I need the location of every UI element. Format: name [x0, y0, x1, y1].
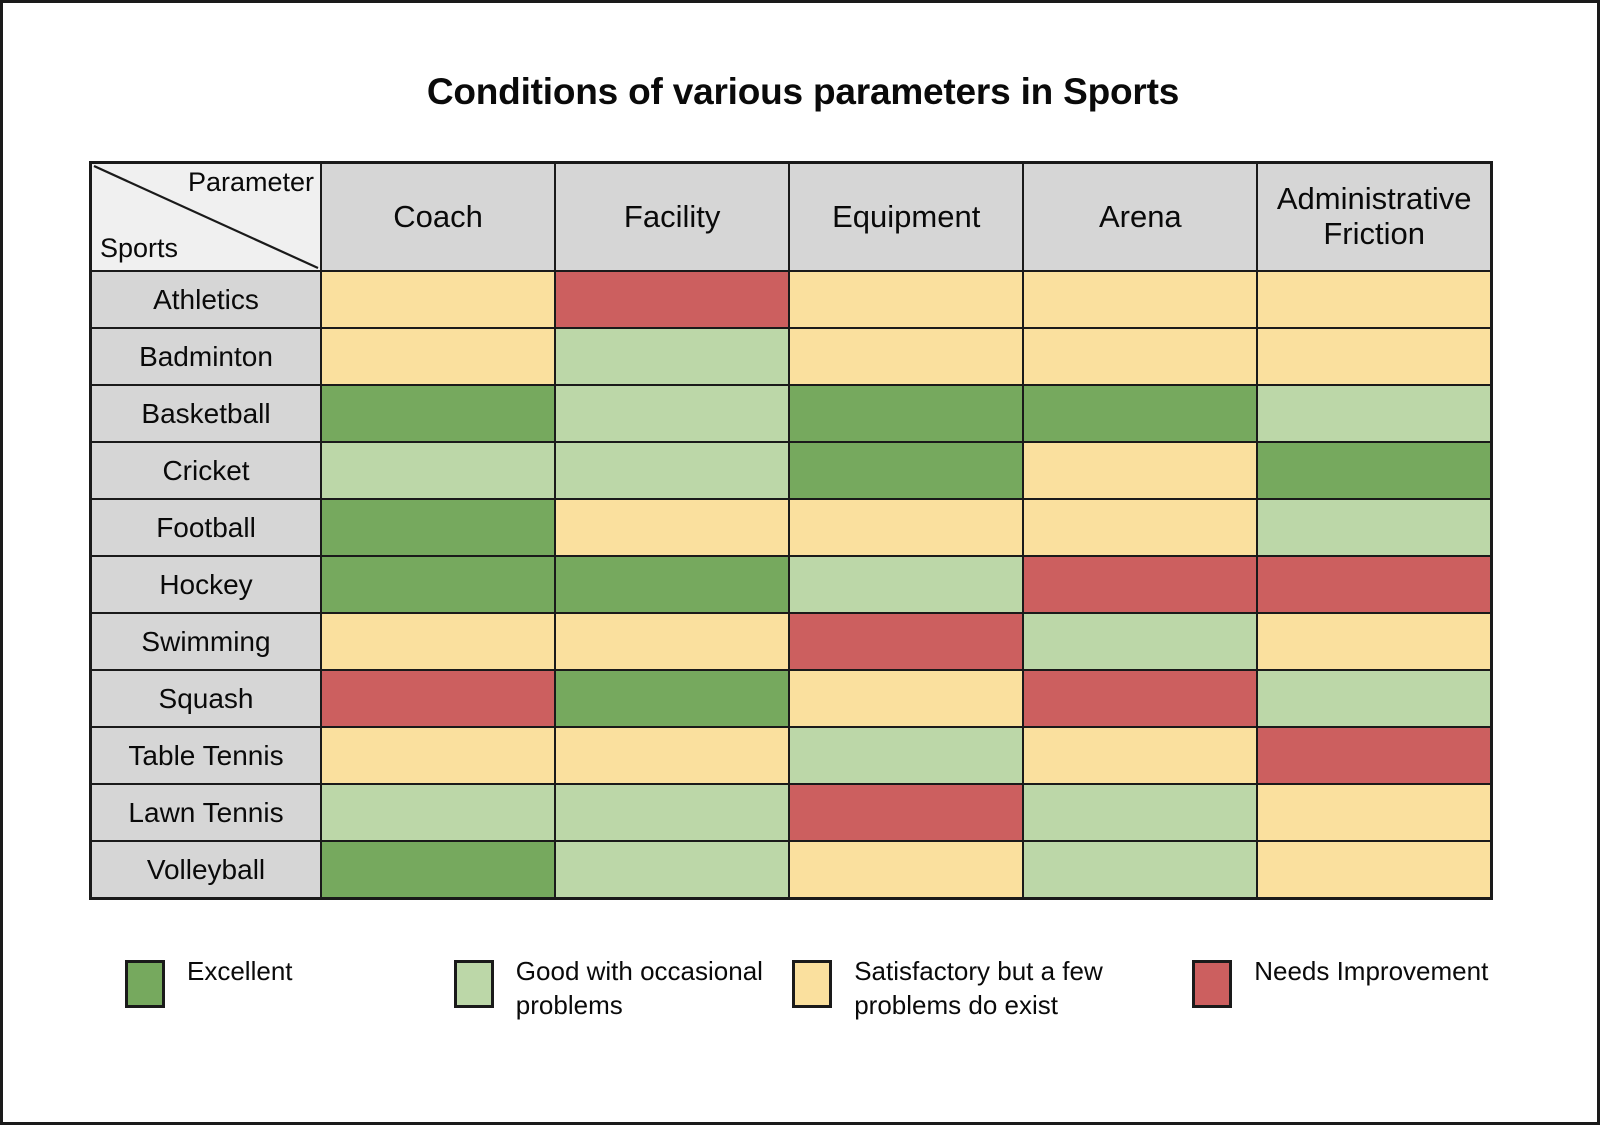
- matrix-cell: [555, 328, 789, 385]
- matrix-cell: [1023, 385, 1257, 442]
- matrix-cell: [1257, 442, 1491, 499]
- legend-swatch-needs-improvement: [1192, 960, 1232, 1008]
- matrix-cell: [789, 841, 1023, 899]
- matrix-cell: [789, 271, 1023, 328]
- row-header-athletics: Athletics: [91, 271, 322, 328]
- table-row: Lawn Tennis: [91, 784, 1492, 841]
- table-header-row: Parameter Sports Coach Facility Equipmen…: [91, 163, 1492, 272]
- matrix-cell: [1023, 556, 1257, 613]
- legend-item-needs-improvement: Needs Improvement: [1152, 955, 1509, 1008]
- conditions-matrix-table: Parameter Sports Coach Facility Equipmen…: [89, 161, 1493, 900]
- row-header-badminton: Badminton: [91, 328, 322, 385]
- matrix-cell: [789, 385, 1023, 442]
- matrix-cell: [321, 271, 555, 328]
- matrix-cell: [321, 385, 555, 442]
- table-row: Badminton: [91, 328, 1492, 385]
- matrix-cell: [555, 784, 789, 841]
- legend-item-good: Good with occasional problems: [442, 955, 780, 1023]
- matrix-cell: [1023, 784, 1257, 841]
- matrix-cell: [321, 499, 555, 556]
- column-header-equipment: Equipment: [789, 163, 1023, 272]
- legend-label-excellent: Excellent: [187, 955, 293, 989]
- legend-swatch-good: [454, 960, 494, 1008]
- matrix-cell: [1257, 670, 1491, 727]
- matrix-cell: [555, 727, 789, 784]
- row-axis-label: Sports: [100, 234, 178, 262]
- matrix-cell: [1023, 328, 1257, 385]
- matrix-cell: [1257, 385, 1491, 442]
- column-header-administrative-friction: Administrative Friction: [1257, 163, 1491, 272]
- row-header-lawn-tennis: Lawn Tennis: [91, 784, 322, 841]
- matrix-cell: [789, 670, 1023, 727]
- legend-swatch-satisfactory: [792, 960, 832, 1008]
- matrix-cell: [321, 556, 555, 613]
- matrix-cell: [789, 556, 1023, 613]
- matrix-cell: [555, 442, 789, 499]
- row-header-swimming: Swimming: [91, 613, 322, 670]
- row-header-table-tennis: Table Tennis: [91, 727, 322, 784]
- legend-label-satisfactory: Satisfactory but a few problems do exist: [854, 955, 1152, 1023]
- row-header-basketball: Basketball: [91, 385, 322, 442]
- legend: Excellent Good with occasional problems …: [89, 955, 1509, 1023]
- table-row: Squash: [91, 670, 1492, 727]
- matrix-cell: [789, 727, 1023, 784]
- matrix-cell: [789, 784, 1023, 841]
- matrix-cell: [1257, 556, 1491, 613]
- matrix-cell: [1023, 613, 1257, 670]
- row-header-squash: Squash: [91, 670, 322, 727]
- matrix-cell: [321, 328, 555, 385]
- matrix-cell: [1023, 499, 1257, 556]
- table-row: Volleyball: [91, 841, 1492, 899]
- matrix-container: Parameter Sports Coach Facility Equipmen…: [89, 161, 1493, 900]
- matrix-cell: [789, 613, 1023, 670]
- table-row: Hockey: [91, 556, 1492, 613]
- column-header-arena: Arena: [1023, 163, 1257, 272]
- matrix-cell: [789, 499, 1023, 556]
- matrix-cell: [1023, 670, 1257, 727]
- column-header-coach: Coach: [321, 163, 555, 272]
- matrix-cell: [1023, 271, 1257, 328]
- table-row: Swimming: [91, 613, 1492, 670]
- legend-label-good: Good with occasional problems: [516, 955, 780, 1023]
- matrix-cell: [789, 328, 1023, 385]
- matrix-cell: [1257, 784, 1491, 841]
- column-header-facility: Facility: [555, 163, 789, 272]
- table-row: Cricket: [91, 442, 1492, 499]
- matrix-cell: [321, 442, 555, 499]
- matrix-cell: [555, 556, 789, 613]
- table-row: Basketball: [91, 385, 1492, 442]
- matrix-cell: [1257, 499, 1491, 556]
- matrix-cell: [1257, 613, 1491, 670]
- row-header-volleyball: Volleyball: [91, 841, 322, 899]
- matrix-cell: [1257, 727, 1491, 784]
- table-body: AthleticsBadmintonBasketballCricketFootb…: [91, 271, 1492, 899]
- matrix-cell: [1023, 727, 1257, 784]
- legend-label-needs-improvement: Needs Improvement: [1254, 955, 1488, 989]
- page-title: Conditions of various parameters in Spor…: [3, 71, 1600, 113]
- matrix-cell: [1257, 271, 1491, 328]
- matrix-cell: [555, 613, 789, 670]
- matrix-cell: [321, 727, 555, 784]
- matrix-cell: [1023, 442, 1257, 499]
- matrix-cell: [321, 670, 555, 727]
- matrix-cell: [321, 841, 555, 899]
- row-header-football: Football: [91, 499, 322, 556]
- table-row: Athletics: [91, 271, 1492, 328]
- matrix-cell: [555, 271, 789, 328]
- matrix-cell: [555, 385, 789, 442]
- matrix-cell: [1257, 841, 1491, 899]
- matrix-cell: [1257, 328, 1491, 385]
- table-row: Football: [91, 499, 1492, 556]
- matrix-cell: [321, 784, 555, 841]
- legend-item-excellent: Excellent: [89, 955, 442, 1008]
- figure-canvas: Conditions of various parameters in Spor…: [0, 0, 1600, 1125]
- matrix-cell: [555, 670, 789, 727]
- legend-swatch-excellent: [125, 960, 165, 1008]
- table-row: Table Tennis: [91, 727, 1492, 784]
- matrix-cell: [1023, 841, 1257, 899]
- matrix-cell: [321, 613, 555, 670]
- row-header-hockey: Hockey: [91, 556, 322, 613]
- row-header-cricket: Cricket: [91, 442, 322, 499]
- column-axis-label: Parameter: [188, 168, 314, 196]
- corner-axis-cell: Parameter Sports: [91, 163, 322, 272]
- matrix-cell: [789, 442, 1023, 499]
- matrix-cell: [555, 841, 789, 899]
- matrix-cell: [555, 499, 789, 556]
- legend-item-satisfactory: Satisfactory but a few problems do exist: [780, 955, 1152, 1023]
